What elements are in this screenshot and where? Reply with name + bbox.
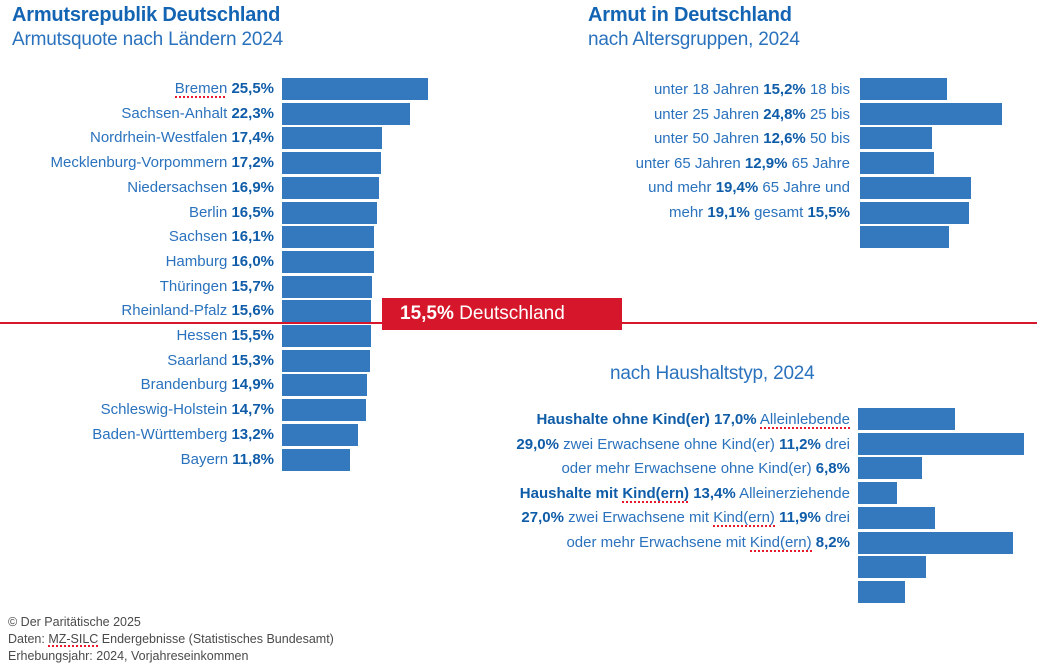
text-token: Kind(ern) [622,485,689,503]
state-value: 15,6% [227,302,274,319]
state-value: 15,3% [227,352,274,369]
state-name: Saarland [167,352,227,369]
poverty-by-household-panel: nach Haushaltstyp, 2024 [610,363,815,385]
value-token: 12,6% [763,130,806,147]
poverty-by-age-panel: Armut in Deutschland nach Altersgruppen,… [588,4,800,51]
value-token: 17,0% [714,411,757,428]
text-token: mehr [677,179,711,196]
state-value: 15,7% [227,278,274,295]
state-bar [282,374,367,396]
state-bar [282,350,370,372]
age-bar [860,78,947,100]
text-token: mehr [596,460,630,477]
text-token: Kind(er) [758,460,811,477]
text-token: ohne [684,436,717,453]
text-token: ohne [612,411,648,428]
left-panel-subtitle: Armutsquote nach Ländern 2024 [12,29,283,51]
footer-source-prefix: Daten: [8,632,48,646]
text-token: Erwachsene [597,436,680,453]
state-name: Niedersachsen [127,179,227,196]
state-row-label: Hamburg 16,0% [166,251,274,273]
state-row-label: Sachsen-Anhalt 22,3% [121,103,274,125]
state-value: 22,3% [227,105,274,122]
state-name: Baden-Württemberg [92,426,227,443]
household-label-line: 27,0% zwei Erwachsene mit Kind(ern) 11,9… [460,506,850,531]
state-name: Nordrhein-Westfalen [90,129,227,146]
state-row: Thüringen 15,7% [0,276,282,298]
value-token: 11,2% [779,436,821,453]
text-token: 18 [810,81,827,98]
state-name: Berlin [189,204,227,221]
state-row-label: Schleswig-Holstein 14,7% [101,399,274,421]
state-row: Brandenburg 14,9% [0,374,282,396]
state-row: Sachsen-Anhalt 22,3% [0,103,282,125]
state-name: Rheinland-Pfalz [121,302,227,319]
text-token: oder [561,460,591,477]
text-token: 50 [692,130,709,147]
value-token: 13,4% [693,485,736,502]
state-name: Hamburg [166,253,228,270]
footer-year: Erhebungsjahr: 2024, Vorjahreseinkommen [8,648,334,665]
state-bar [282,251,374,273]
footer-source-rest: Endergebnisse (Statistisches Bundesamt) [98,632,334,646]
text-token: unter [654,106,688,123]
state-row: Nordrhein-Westfalen 17,4% [0,127,282,149]
germany-reference-badge: 15,5% Deutschland [382,298,622,330]
text-token: mehr [669,204,703,221]
state-row-label: Saarland 15,3% [167,350,274,372]
state-value: 16,9% [227,179,274,196]
top-right-subtitle: nach Altersgruppen, 2024 [588,29,800,51]
state-bar [282,103,410,125]
value-token: 6,8% [816,460,850,477]
state-name: Sachsen [169,228,227,245]
household-bar [858,482,897,504]
state-name: Brandenburg [141,376,228,393]
household-label-line: Haushalte ohne Kind(er) 17,0% Alleinlebe… [460,408,850,433]
text-token: Erwachsene [602,509,685,526]
state-value: 17,4% [227,129,274,146]
state-row-label: Berlin 16,5% [189,202,274,224]
footer-copyright: © Der Paritätische 2025 [8,614,334,631]
text-token: Erwachsene [634,460,717,477]
state-row: Bayern 11,8% [0,449,282,471]
state-bar [282,226,374,248]
text-token: mit [726,534,746,551]
state-row: Mecklenburg-Vorpommern 17,2% [0,152,282,174]
text-token: 25 [692,106,709,123]
text-token: und [648,179,673,196]
household-bar [858,581,905,603]
household-bar [858,408,955,430]
text-token: Jahre [812,155,850,172]
footer-source: Daten: MZ-SILC Endergebnisse (Statistisc… [8,631,334,648]
text-token: Jahre [783,179,821,196]
text-token: zwei [563,436,593,453]
state-bar [282,276,372,298]
age-label-line: und mehr 19,4% 65 Jahre und [560,176,850,201]
text-token: Jahren [713,81,759,98]
footer: © Der Paritätische 2025 Daten: MZ-SILC E… [8,614,334,665]
state-bar [282,424,358,446]
state-value: 14,9% [227,376,274,393]
state-name: Schleswig-Holstein [101,401,228,418]
value-token: 27,0% [521,509,564,526]
state-row-label: Brandenburg 14,9% [141,374,274,396]
age-bar [860,177,971,199]
text-token: unter [636,155,670,172]
text-token: und [825,179,850,196]
text-token: bis [831,106,850,123]
text-token: bis [831,130,850,147]
state-row: Saarland 15,3% [0,350,282,372]
text-token: Jahren [695,155,741,172]
poverty-by-state-panel: Armutsrepublik Deutschland Armutsquote n… [12,4,283,51]
household-label-line: 29,0% zwei Erwachsene ohne Kind(er) 11,2… [460,433,850,458]
age-bar [860,152,934,174]
state-row: Baden-Württemberg 13,2% [0,424,282,446]
value-token: 15,2% [763,81,806,98]
state-name: Hessen [176,327,227,344]
household-bar [858,556,926,578]
state-value: 16,5% [227,204,274,221]
state-bar [282,78,428,100]
text-token: Kind(ern) [750,534,812,552]
state-value: 16,1% [227,228,274,245]
text-token: bis [831,81,850,98]
text-token: 65 [674,155,691,172]
left-panel-title: Armutsrepublik Deutschland [12,4,283,27]
value-token: 11,9% [779,509,821,526]
text-token: Jahren [713,106,759,123]
age-bar [860,103,1002,125]
value-token: 19,1% [707,204,750,221]
value-token: 29,0% [516,436,559,453]
text-token: Haushalte [536,411,608,428]
household-label-line: oder mehr Erwachsene mit Kind(ern) 8,2% [460,531,850,556]
state-value: 16,0% [227,253,274,270]
text-token: Alleinerziehende [739,485,850,502]
state-row-label: Bremen 25,5% [175,78,274,100]
text-token: Erwachsene [639,534,722,551]
state-value: 15,5% [227,327,274,344]
state-bar [282,449,350,471]
household-bar [858,457,922,479]
state-row: Hessen 15,5% [0,325,282,347]
state-row: Sachsen 16,1% [0,226,282,248]
age-label-line: unter 25 Jahren 24,8% 25 bis [560,103,850,128]
state-row-label: Niedersachsen 16,9% [127,177,274,199]
household-bar [858,532,1013,554]
age-label-line: unter 18 Jahren 15,2% 18 bis [560,78,850,103]
state-value: 11,8% [228,451,274,468]
age-label-block: unter 18 Jahren 15,2% 18 bisunter 25 Jah… [560,78,850,225]
household-label-block: Haushalte ohne Kind(er) 17,0% Alleinlebe… [460,408,850,555]
age-label-line: unter 65 Jahren 12,9% 65 Jahre [560,152,850,177]
state-name: Sachsen-Anhalt [121,105,227,122]
state-value: 17,2% [227,154,274,171]
state-bar [282,202,377,224]
state-row-label: Nordrhein-Westfalen 17,4% [90,127,274,149]
text-token: zwei [568,509,598,526]
state-row-label: Thüringen 15,7% [160,276,274,298]
state-bar [282,127,382,149]
state-value: 25,5% [227,80,274,97]
age-label-line: mehr 19,1% gesamt 15,5% [560,201,850,226]
text-token: Kind(er) [722,436,775,453]
state-row: Bremen 25,5% [0,78,282,100]
state-bar [282,399,366,421]
text-token: Haushalte [520,485,592,502]
value-token: 12,9% [745,155,788,172]
text-token: gesamt [754,204,803,221]
state-row: Schleswig-Holstein 14,7% [0,399,282,421]
state-bar [282,177,379,199]
top-right-title: Armut in Deutschland [588,4,800,27]
text-token: unter [654,81,688,98]
text-token: 65 [762,179,779,196]
footer-source-flagged: MZ-SILC [48,632,98,647]
state-row-label: Mecklenburg-Vorpommern 17,2% [51,152,274,174]
state-value: 13,2% [227,426,274,443]
bottom-right-title: nach Haushaltstyp, 2024 [610,363,815,385]
state-row: Niedersachsen 16,9% [0,177,282,199]
value-token: 15,5% [807,204,850,221]
state-row-label: Rheinland-Pfalz 15,6% [121,300,274,322]
state-row-label: Baden-Württemberg 13,2% [92,424,274,446]
state-bar [282,300,371,322]
text-token: 25 [810,106,827,123]
text-token: oder [566,534,596,551]
value-token: 8,2% [816,534,850,551]
state-name: Mecklenburg-Vorpommern [51,154,228,171]
state-row: Hamburg 16,0% [0,251,282,273]
state-bar [282,152,381,174]
state-name: Bayern [181,451,229,468]
state-bar [282,325,371,347]
text-token: mehr [601,534,635,551]
germany-value: 15,5% [400,303,454,324]
text-token: 65 [792,155,809,172]
household-bar [858,507,935,529]
text-token: mit [689,509,709,526]
text-token: drei [825,436,850,453]
text-token: Kind(ern) [713,509,775,527]
state-row-label: Hessen 15,5% [176,325,274,347]
state-row: Berlin 16,5% [0,202,282,224]
text-token: unter [654,130,688,147]
age-bar [860,127,932,149]
text-token: ohne [721,460,754,477]
text-token: 18 [692,81,709,98]
household-label-line: oder mehr Erwachsene ohne Kind(er) 6,8% [460,457,850,482]
text-token: Alleinlebende [760,411,850,429]
state-value: 14,7% [227,401,274,418]
age-label-line: unter 50 Jahren 12,6% 50 bis [560,127,850,152]
age-bar [860,202,969,224]
value-token: 24,8% [763,106,806,123]
state-row-label: Bayern 11,8% [181,449,274,471]
germany-label: Deutschland [459,303,565,324]
household-bar [858,433,1024,455]
text-token: Jahren [713,130,759,147]
value-token: 19,4% [716,179,759,196]
text-token: mit [596,485,619,502]
text-token: drei [825,509,850,526]
state-name: Thüringen [160,278,228,295]
text-token: 50 [810,130,827,147]
household-label-line: Haushalte mit Kind(ern) 13,4% Alleinerzi… [460,482,850,507]
state-row-label: Sachsen 16,1% [169,226,274,248]
text-token: Kind(er) [652,411,710,428]
state-row: Rheinland-Pfalz 15,6% [0,300,282,322]
age-bar [860,226,949,248]
state-name: Bremen [175,80,228,98]
